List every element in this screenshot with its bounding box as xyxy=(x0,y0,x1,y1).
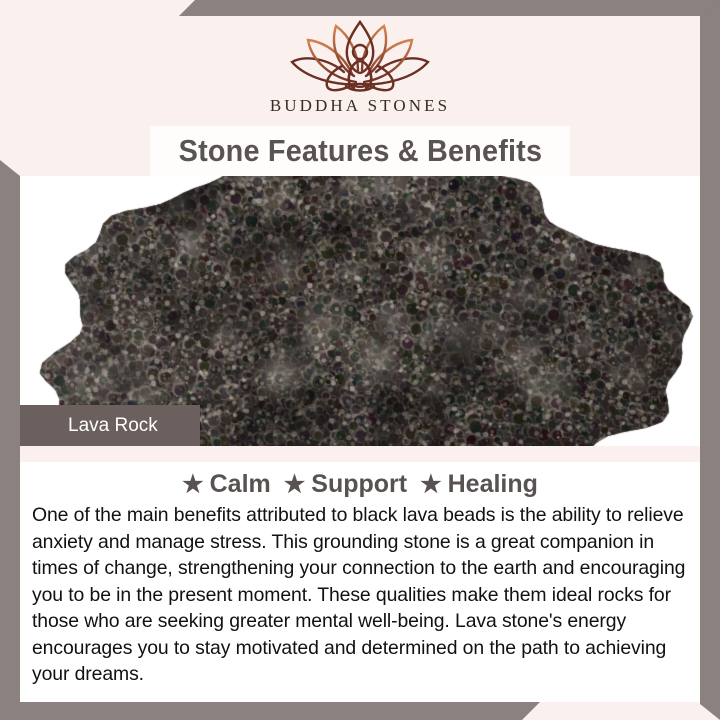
benefit-item: ★Healing xyxy=(420,470,538,499)
benefit-label: Support xyxy=(311,470,407,499)
frame-band-top xyxy=(0,0,720,16)
brand-logo: BUDDHA STONES xyxy=(0,16,720,116)
lotus-meditation-icon xyxy=(284,16,436,94)
title-banner: Stone Features & Benefits xyxy=(150,126,570,176)
benefit-item: ★Calm xyxy=(182,470,271,499)
description-text: One of the main benefits attributed to b… xyxy=(32,502,688,688)
product-info-card: BUDDHA STONES Stone Features & Benefits … xyxy=(0,0,720,720)
photo-caption-bar: Lava Rock xyxy=(20,405,200,446)
brand-name: BUDDHA STONES xyxy=(0,96,720,116)
benefit-label: Calm xyxy=(210,470,271,499)
description-panel: ★Calm★Support★Healing One of the main be… xyxy=(20,462,700,702)
benefits-row: ★Calm★Support★Healing xyxy=(20,462,700,499)
star-icon: ★ xyxy=(284,473,306,497)
page-title: Stone Features & Benefits xyxy=(178,133,542,169)
star-icon: ★ xyxy=(182,473,204,497)
photo-bottom-strip xyxy=(20,446,700,462)
benefit-item: ★Support xyxy=(284,470,407,499)
benefit-label: Healing xyxy=(448,470,538,499)
photo-caption-label: Lava Rock xyxy=(20,415,158,437)
star-icon: ★ xyxy=(420,473,442,497)
frame-band-bottom xyxy=(0,702,720,720)
